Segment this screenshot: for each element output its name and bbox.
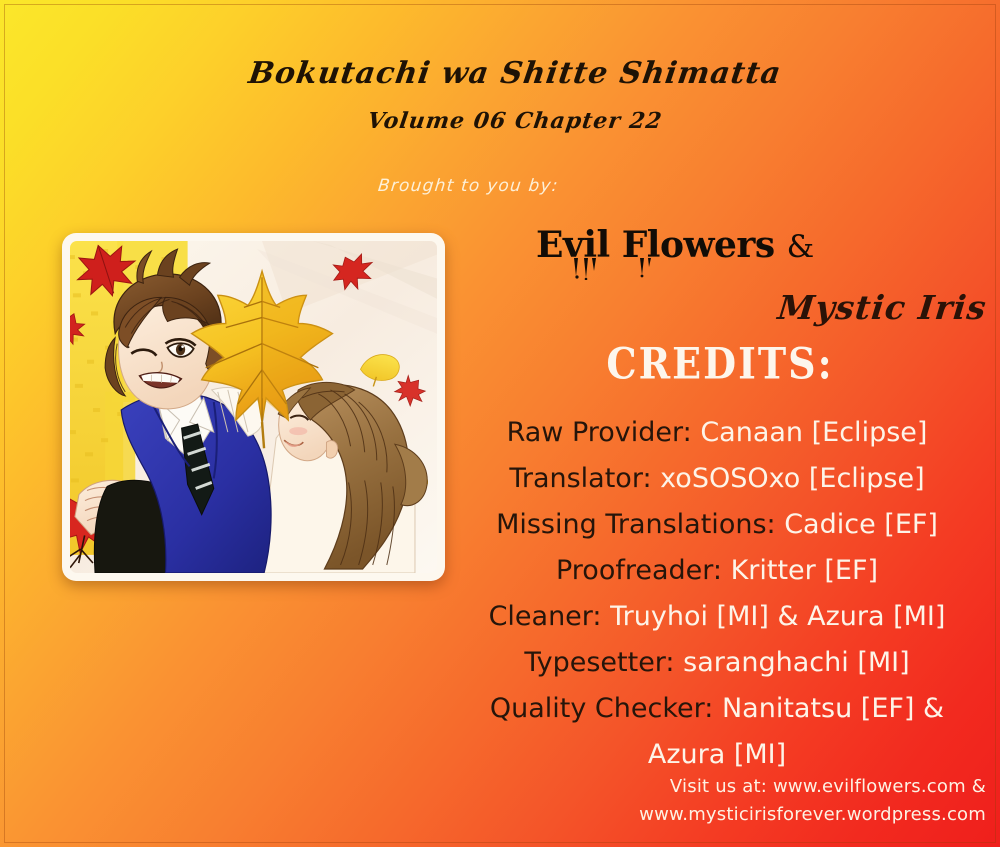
credit-person: Truyhoi [MI] & Azura [MI]	[610, 601, 945, 632]
credit-role: Cleaner:	[489, 601, 602, 632]
group-conjunction: &	[787, 229, 814, 265]
credit-person: Canaan [Eclipse]	[700, 417, 927, 448]
credits-list: Raw Provider: Canaan [Eclipse] Translato…	[440, 410, 994, 778]
footer-line-1: Visit us at: www.evilflowers.com &	[639, 773, 986, 801]
page-subtitle: Volume 06 Chapter 22	[58, 108, 972, 134]
credit-row: Missing Translations: Cadice [EF]	[440, 502, 994, 548]
credit-person: Cadice [EF]	[784, 509, 938, 540]
credits-page: Bokutachi wa Shitte Shimatta Volume 06 C…	[0, 0, 1000, 847]
credit-role: Raw Provider:	[507, 417, 692, 448]
credit-row: Raw Provider: Canaan [Eclipse]	[440, 410, 994, 456]
footer-links: Visit us at: www.evilflowers.com & www.m…	[639, 773, 986, 829]
credit-row-continuation: Azura [MI]	[440, 732, 994, 778]
manga-illustration-art	[70, 241, 437, 573]
credit-person: xoSOSOxo [Eclipse]	[660, 463, 925, 494]
credit-row: Quality Checker: Nanitatsu [EF] &	[440, 686, 994, 732]
credit-row: Typesetter: saranghachi [MI]	[440, 640, 994, 686]
page-title: Bokutachi wa Shitte Shimatta	[58, 56, 973, 91]
credit-person: Nanitatsu [EF] &	[722, 693, 944, 724]
credit-person: Kritter [EF]	[731, 555, 878, 586]
credit-role: Quality Checker:	[490, 693, 714, 724]
scanlation-group-primary: Evil Flowers &	[536, 224, 814, 266]
illustration	[70, 241, 437, 573]
credit-person: Azura [MI]	[648, 739, 786, 770]
credit-role: Missing Translations:	[496, 509, 776, 540]
credit-person: saranghachi [MI]	[683, 647, 910, 678]
scanlation-group-secondary: Mystic Iris	[776, 288, 989, 327]
credit-role: Proofreader:	[556, 555, 722, 586]
credits-heading: CREDITS:	[448, 338, 992, 388]
credit-role: Translator:	[509, 463, 651, 494]
footer-line-2: www.mysticirisforever.wordpress.com	[639, 801, 986, 829]
credit-row: Proofreader: Kritter [EF]	[440, 548, 994, 594]
illustration-frame	[62, 233, 445, 581]
credit-row: Cleaner: Truyhoi [MI] & Azura [MI]	[440, 594, 994, 640]
credit-role: Typesetter:	[524, 647, 674, 678]
credit-row: Translator: xoSOSOxo [Eclipse]	[440, 456, 994, 502]
brought-to-you-by-label: Brought to you by:	[377, 176, 560, 196]
group-primary-name: Evil Flowers	[536, 224, 775, 266]
